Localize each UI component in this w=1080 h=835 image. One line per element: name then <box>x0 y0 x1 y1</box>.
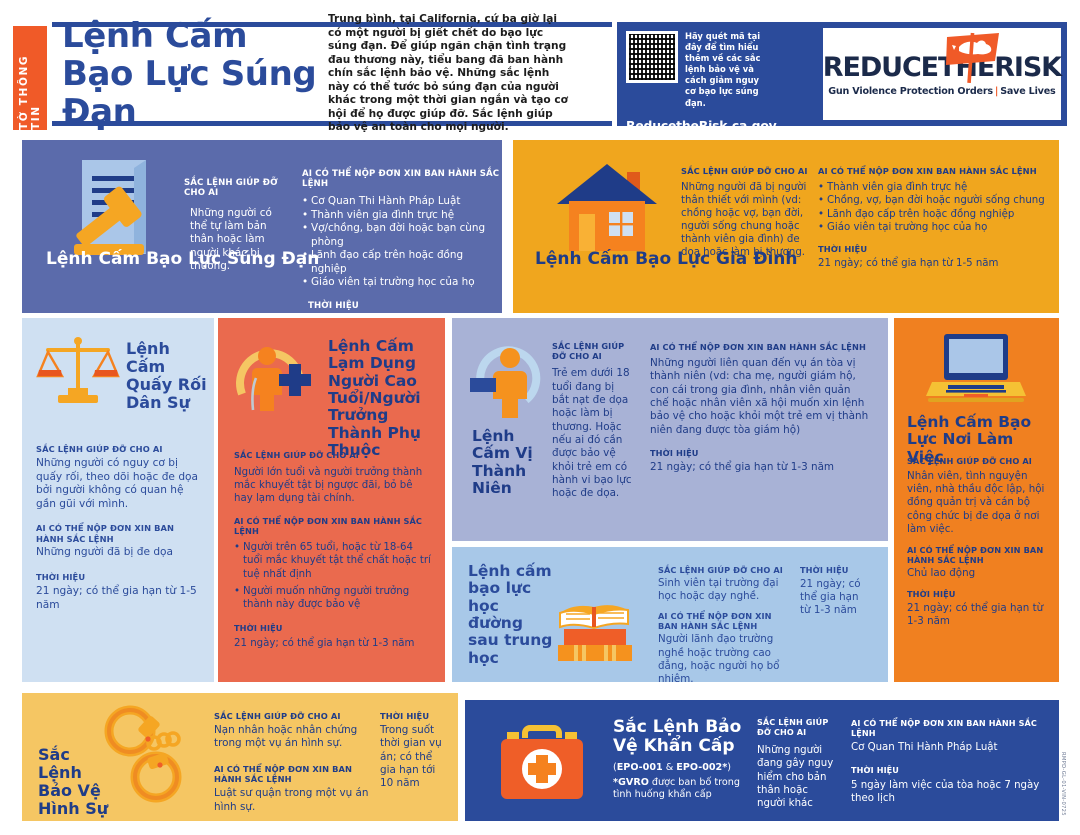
who-helps-label: SẮC LỆNH GIÚP ĐỠ CHO AI <box>907 456 1049 466</box>
laptop-icon <box>926 332 1026 406</box>
who-files-list: Thành viên gia đình trực hệ Chồng, vợ, b… <box>818 181 1046 234</box>
card-workplace-violence-order: Lệnh Cấm Bạo Lực Nơi Làm Việc SẮC LỆNH G… <box>894 318 1059 682</box>
who-helps-column: SẮC LỆNH GIÚP ĐỠ CHO AI Những người có t… <box>184 178 288 273</box>
who-files-list: Cơ Quan Thi Hành Pháp Luật Thành viên gi… <box>302 195 502 290</box>
who-helps-text: Trẻ em dưới 18 tuổi đang bị bắt nạt đe d… <box>552 367 634 500</box>
epo-code-amp: & <box>666 762 673 773</box>
card-postsecondary-school-violence-order: Lệnh cấm bạo lực học đường sau trung học… <box>452 547 888 682</box>
who-files-label: AI CÓ THỂ NỘP ĐƠN XIN BAN HÀNH SẮC LỆNH <box>818 166 1046 176</box>
juvenile-person-icon <box>470 336 550 424</box>
who-files-label: AI CÓ THỂ NỘP ĐƠN XIN BAN HÀNH SẮC LỆNH <box>650 342 872 352</box>
duration-label: THỜI HIỆU <box>800 565 872 575</box>
who-helps-text: Nạn nhân hoặc nhân chứng trong một vụ án… <box>214 724 369 751</box>
who-helps-text: Sinh viên tại trường đại học hoặc dạy ng… <box>658 577 788 603</box>
duration-label: THỜI HIỆU <box>818 244 1046 254</box>
infographic-page: TỜ THÔNG TIN Lệnh Cấm Bạo Lực Súng Đạn T… <box>0 0 1080 835</box>
who-files-text: Người lãnh đạo trường nghề hoặc trường c… <box>658 633 788 682</box>
qr-caption: Hãy quét mã tại đây để tìm hiểu thêm về … <box>685 31 771 109</box>
card-title: Lệnh Cấm Quấy Rối Dân Sự <box>126 340 210 412</box>
who-helps-text: Những người có thể tự làm bản thân hoặc … <box>184 207 288 274</box>
duration-label: THỜI HIỆU <box>234 623 432 633</box>
epo-code-1: EPO-001 <box>617 762 663 773</box>
page-title: Lệnh Cấm Bạo Lực Súng Đạn <box>52 17 320 131</box>
list-item: Giáo viên tại trường học của họ <box>818 221 1046 234</box>
scales-of-justice-icon <box>36 336 120 408</box>
who-files-list: Người trên 65 tuổi, hoặc từ 18-64 tuổi m… <box>234 541 432 611</box>
who-helps-column: SẮC LỆNH GIÚP ĐỠ CHO AI Những người đang… <box>757 718 839 810</box>
list-item: Vợ/chồng, bạn đời hoặc bạn cùng phòng <box>302 222 502 249</box>
list-item: Lãnh đạo cấp trên hoặc đồng nghiệp <box>818 208 1046 221</box>
who-files-column: AI CÓ THỂ NỘP ĐƠN XIN BAN HÀNH SẮC LỆNH … <box>818 166 1046 270</box>
logo-wordmark: REDUCETHERISK <box>823 52 1061 83</box>
duration-text: 5 ngày làm việc của tòa hoặc 7 ngày theo… <box>851 779 1047 805</box>
stack-of-books-icon <box>552 583 638 661</box>
who-files-label: AI CÓ THỂ NỘP ĐƠN XIN BAN HÀNH SẮC LỆNH <box>302 169 502 189</box>
card-body: SẮC LỆNH GIÚP ĐỠ CHO AI Những người có n… <box>36 444 204 613</box>
who-helps-label: SẮC LỆNH GIÚP ĐỠ CHO AI <box>234 450 432 460</box>
logo-tagline-right: Save Lives <box>1000 86 1055 97</box>
card-title: Lệnh Cấm Vị Thành Niên <box>472 428 542 497</box>
who-files-text: Chủ lao động <box>907 567 1049 580</box>
duration-label: THỜI HIỆU <box>851 765 1047 775</box>
card-title: Sắc Lệnh Bảo Vệ Hình Sự <box>38 746 118 818</box>
who-files-label: AI CÓ THỂ NỘP ĐƠN XIN BAN HÀNH SẮC LỆNH <box>36 523 204 544</box>
website-url[interactable]: ReducetheRisk.ca.gov <box>626 118 777 133</box>
list-item: Chồng, vợ, bạn đời hoặc người sống chung <box>818 194 1046 207</box>
duration-column: THỜI HIỆU Trong suốt thời gian vụ án; có… <box>380 711 448 791</box>
who-helps-label: SẮC LỆNH GIÚP ĐỠ CHO AI <box>757 718 839 737</box>
card-gun-violence-restraining-order: Lệnh Cấm Bạo Lực Súng Đạn SẮC LỆNH GIÚP … <box>22 140 502 313</box>
card-title: Lệnh cấm bạo lực học đường sau trung học <box>468 563 556 667</box>
who-files-label: AI CÓ THỂ NỘP ĐƠN XIN BAN HÀNH SẮC LỆNH <box>214 764 369 785</box>
duration-column: THỜI HIỆU 21 ngày; có thể gia hạn từ 1-3… <box>800 565 872 618</box>
duration-label: THỜI HIỆU <box>907 589 1049 599</box>
who-files-text: Những người đã bị đe dọa <box>36 546 204 560</box>
header-title-box: Lệnh Cấm Bạo Lực Súng Đạn Trung bình, tạ… <box>52 22 612 126</box>
who-helps-text: Những người có nguy cơ bị quấy rối, theo… <box>36 457 204 511</box>
list-item: Lãnh đạo cấp trên hoặc đồng nghiệp <box>302 249 502 276</box>
list-item: Thành viên gia đình trực hệ <box>302 209 502 223</box>
duration-label: THỜI HIỆU <box>380 711 448 721</box>
card-civil-harassment-order: Lệnh Cấm Quấy Rối Dân Sự SẮC LỆNH GIÚP Đ… <box>22 318 214 682</box>
who-files-label: AI CÓ THỂ NỘP ĐƠN XIN BAN HÀNH SẮC LỆNH <box>234 516 432 536</box>
who-helps-column: SẮC LỆNH GIÚP ĐỠ CHO AI Trẻ em dưới 18 t… <box>552 342 634 500</box>
house-icon <box>553 156 661 261</box>
card-title: Lệnh Cấm Lạm Dụng Người Cao Tuổi/Người T… <box>328 338 440 460</box>
list-item: Giáo viên tại trường học của họ <box>302 276 502 290</box>
header-intro-text: Trung bình, tại California, cứ ba giờ lạ… <box>320 13 570 134</box>
document-code: RMPD-GL-01-VIN-0725 <box>1060 752 1066 816</box>
who-helps-label: SẮC LỆNH GIÚP ĐỠ CHO AI <box>184 178 288 199</box>
card-title: Sắc Lệnh Bảo Vệ Khẩn Cấp <box>613 718 743 756</box>
list-item: Người muốn những người trưởng thành này … <box>234 585 432 612</box>
qr-panel: Hãy quét mã tại đây để tìm hiểu thêm về … <box>617 22 823 126</box>
who-helps-label: SẮC LỆNH GIÚP ĐỠ CHO AI <box>681 166 809 176</box>
who-files-label: AI CÓ THỂ NỘP ĐƠN XIN BAN HÀNH SẮC LỆNH <box>658 611 788 631</box>
duration-label: THỜI HIỆU <box>36 572 204 582</box>
bear-flag-icon <box>943 31 1005 83</box>
who-files-column: AI CÓ THỂ NỘP ĐƠN XIN BAN HÀNH SẮC LỆNH … <box>650 342 872 474</box>
who-helps-text: Những người đã bị người thân thiết với m… <box>681 181 809 259</box>
card-body: SẮC LỆNH GIÚP ĐỠ CHO AI Người lớn tuổi v… <box>234 450 432 650</box>
who-helps-text: Nhân viên, tình nguyện viên, nhà thầu độ… <box>907 470 1049 536</box>
fact-sheet-tag-label: TỜ THÔNG TIN <box>18 26 42 130</box>
duration-text: 21 ngày; có thể gia hạn từ 1-5 năm <box>36 585 204 612</box>
duration-text: Trong suốt thời gian vụ án; có thể gia h… <box>380 724 448 791</box>
logo-tagline-left: Gun Violence Protection Orders <box>828 86 993 97</box>
epo-code-2: EPO-002* <box>676 762 727 773</box>
reduce-the-risk-logo: REDUCETHERISK Gun Violence Protection Or… <box>823 28 1061 120</box>
card-elder-dependent-adult-abuse-order: Lệnh Cấm Lạm Dụng Người Cao Tuổi/Người T… <box>218 318 445 682</box>
who-helps-label: SẮC LỆNH GIÚP ĐỠ CHO AI <box>552 342 634 361</box>
card-emergency-protective-order: Sắc Lệnh Bảo Vệ Khẩn Cấp (EPO-001 & EPO-… <box>465 700 1059 821</box>
qr-code-icon[interactable] <box>626 31 678 83</box>
duration-text: 21 ngày; có thể gia hạn từ 1-3 năm <box>650 461 872 474</box>
duration-label: THỜI HIỆU <box>302 301 502 311</box>
card-subtitle: (EPO-001 & EPO-002*) *GVRO được ban bố t… <box>613 762 748 800</box>
who-helps-label: SẮC LỆNH GIÚP ĐỠ CHO AI <box>214 711 369 721</box>
header-brand-panel: Hãy quét mã tại đây để tìm hiểu thêm về … <box>617 22 1067 126</box>
duration-text: 21 ngày; có thể gia hạn từ 1-3 năm <box>800 578 872 618</box>
who-files-text: Luật sư quận trong một vụ án hình sự. <box>214 787 369 814</box>
who-helps-text: Những người đang gây nguy hiểm cho bản t… <box>757 744 839 809</box>
who-helps-text: Người lớn tuổi và người trưởng thành mắc… <box>234 466 432 505</box>
logo-tagline: Gun Violence Protection Orders|Save Live… <box>828 86 1055 97</box>
who-helps-label: SẮC LỆNH GIÚP ĐỠ CHO AI <box>658 565 788 575</box>
who-files-label: AI CÓ THỂ NỘP ĐƠN XIN BAN HÀNH SẮC LỆNH <box>907 545 1049 565</box>
card-juvenile-restraining-order: Lệnh Cấm Vị Thành Niên SẮC LỆNH GIÚP ĐỠ … <box>452 318 888 541</box>
who-helps-label: SẮC LỆNH GIÚP ĐỠ CHO AI <box>36 444 204 454</box>
list-item: Thành viên gia đình trực hệ <box>818 181 1046 194</box>
who-files-label: AI CÓ THỂ NỘP ĐƠN XIN BAN HÀNH SẮC LỆNH <box>851 718 1047 738</box>
card-body: SẮC LỆNH GIÚP ĐỠ CHO AI Nhân viên, tình … <box>907 456 1049 628</box>
first-aid-kit-icon <box>495 722 589 804</box>
list-item: Người trên 65 tuổi, hoặc từ 18-64 tuổi m… <box>234 541 432 581</box>
page-header: TỜ THÔNG TIN Lệnh Cấm Bạo Lực Súng Đạn T… <box>0 0 1080 133</box>
list-item: Cơ Quan Thi Hành Pháp Luật <box>302 195 502 209</box>
logo-word-reduce: REDUCE <box>823 52 938 83</box>
who-helps-column: SẮC LỆNH GIÚP ĐỠ CHO AI Sinh viên tại tr… <box>658 565 788 682</box>
who-files-text: Những người liên quan đến vụ án tòa vị t… <box>650 357 872 437</box>
who-files-text: Cơ Quan Thi Hành Pháp Luật <box>851 741 1047 754</box>
elder-person-icon <box>234 334 322 414</box>
who-helps-column: SẮC LỆNH GIÚP ĐỠ CHO AI Nạn nhân hoặc nh… <box>214 711 369 814</box>
who-files-column: AI CÓ THỂ NỘP ĐƠN XIN BAN HÀNH SẮC LỆNH … <box>302 169 502 313</box>
card-domestic-violence-restraining-order: Lệnh Cấm Bạo Lực Gia Đình SẮC LỆNH GIÚP … <box>513 140 1059 313</box>
card-criminal-protective-order: Sắc Lệnh Bảo Vệ Hình Sự SẮC LỆNH GIÚP ĐỠ… <box>22 693 458 821</box>
who-files-column: AI CÓ THỂ NỘP ĐƠN XIN BAN HÀNH SẮC LỆNH … <box>851 718 1047 805</box>
duration-text: 21 ngày; có thể gia hạn từ 1-3 năm <box>907 602 1049 628</box>
duration-text: 21 ngày; có thể gia hạn từ 1-3 năm <box>234 637 432 650</box>
fact-sheet-tag: TỜ THÔNG TIN <box>13 26 47 130</box>
gvro-note-bold: *GVRO <box>613 777 649 788</box>
duration-label: THỜI HIỆU <box>650 448 872 458</box>
who-helps-column: SẮC LỆNH GIÚP ĐỠ CHO AI Những người đã b… <box>681 166 809 259</box>
duration-text: 21 ngày; có thể gia hạn từ 1-5 năm <box>818 257 1046 270</box>
